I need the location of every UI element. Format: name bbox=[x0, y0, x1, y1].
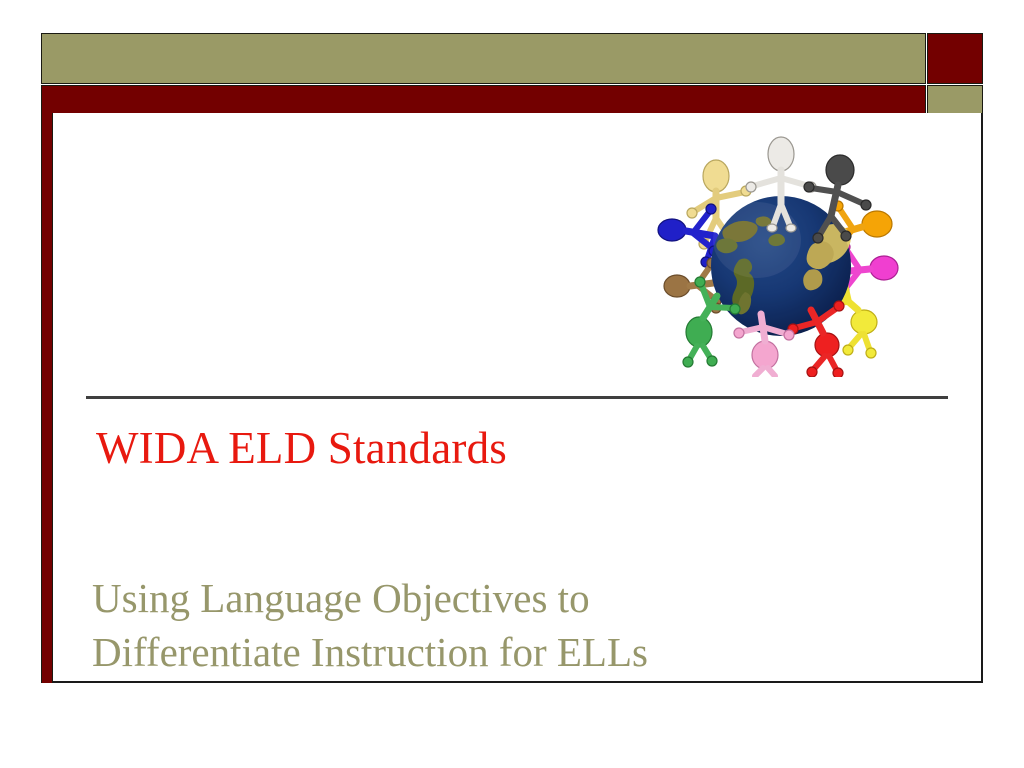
olive-accent-square bbox=[927, 85, 983, 115]
presentation-slide: WIDA ELD Standards Using Language Object… bbox=[0, 0, 1024, 768]
red-accent-square bbox=[927, 33, 983, 84]
title-divider-rule bbox=[86, 396, 948, 399]
slide-subtitle: Using Language Objectives to Differentia… bbox=[92, 571, 792, 679]
left-red-rail bbox=[41, 113, 53, 683]
red-banner-bar bbox=[41, 85, 926, 115]
olive-banner-bar bbox=[41, 33, 926, 84]
globe-with-people-holding-hands-image bbox=[653, 132, 908, 377]
page-title: WIDA ELD Standards bbox=[96, 424, 936, 473]
